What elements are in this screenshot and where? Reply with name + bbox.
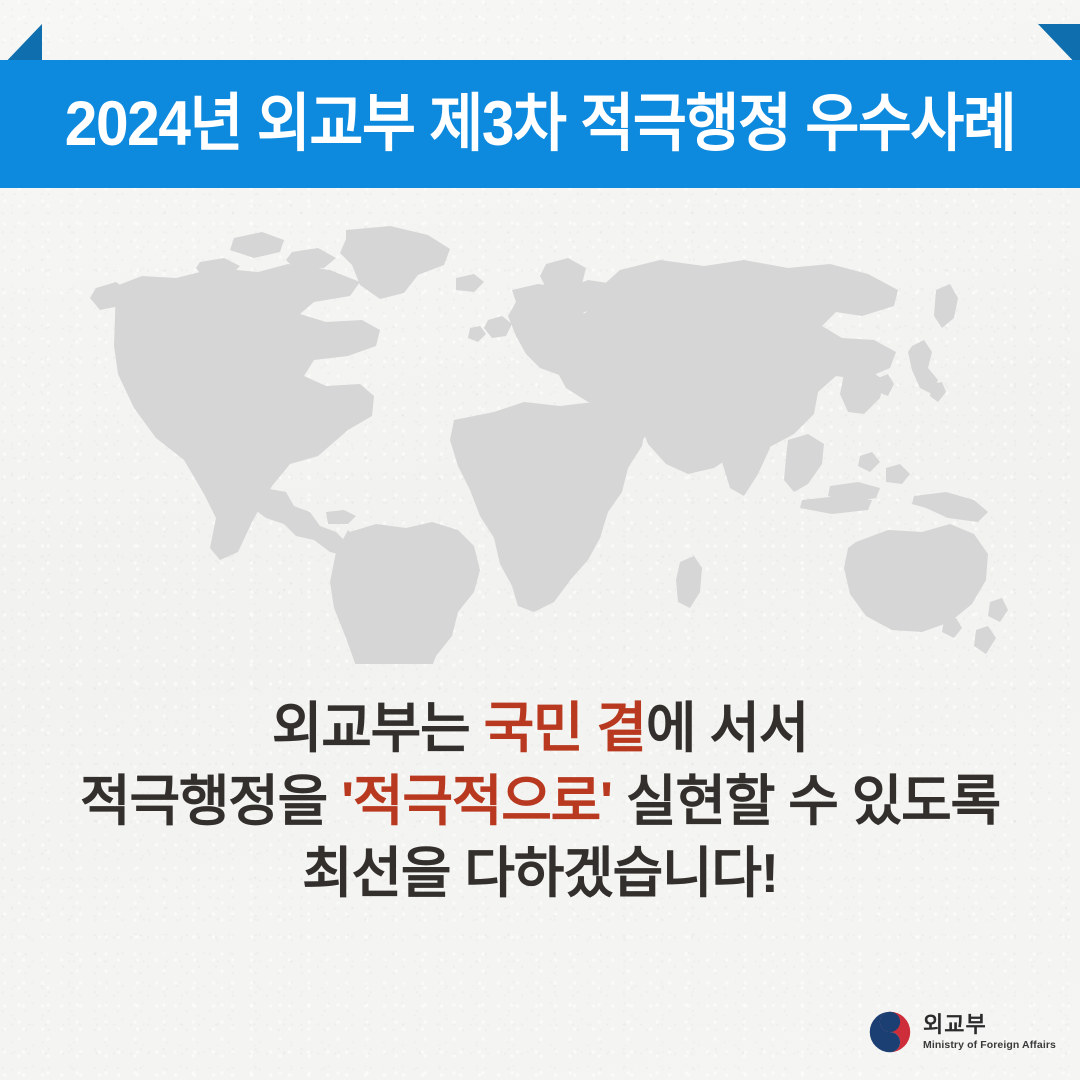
header-ribbon: 2024년 외교부 제3차 적극행정 우수사례 xyxy=(0,0,1080,190)
headline-line-1-post: 에 서서 xyxy=(646,697,808,759)
ministry-logo-text: 외교부 Ministry of Foreign Affairs xyxy=(923,1014,1056,1051)
ribbon-band: 2024년 외교부 제3차 적극행정 우수사례 xyxy=(0,60,1080,188)
headline-line-1-pre: 외교부는 xyxy=(272,697,484,759)
page-title: 2024년 외교부 제3차 적극행정 우수사례 xyxy=(52,93,1029,156)
headline-line-2-post: 실현할 수 있도록 xyxy=(612,770,1000,832)
world-map-landmasses xyxy=(90,226,1008,664)
headline-line-2: 적극행정을 '적극적으로' 실현할 수 있도록 xyxy=(0,765,1080,838)
headline-line-2-pre: 적극행정을 xyxy=(80,770,341,832)
taegeuk-icon xyxy=(868,1010,912,1054)
poster-card: 2024년 외교부 제3차 적극행정 우수사례 xyxy=(0,0,1080,1080)
ministry-name-ko: 외교부 xyxy=(923,1014,1056,1036)
world-map xyxy=(60,224,1020,664)
headline-line-1: 외교부는 국민 곁에 서서 xyxy=(0,692,1080,765)
ministry-logo: 외교부 Ministry of Foreign Affairs xyxy=(868,1010,1056,1054)
headline-line-2-accent: '적극적으로' xyxy=(341,770,612,832)
headline-line-3-pre: 최선을 다하겠습니다! xyxy=(302,842,778,904)
ministry-name-en: Ministry of Foreign Affairs xyxy=(923,1040,1056,1051)
headline-block: 외교부는 국민 곁에 서서 적극행정을 '적극적으로' 실현할 수 있도록 최선… xyxy=(0,692,1080,910)
headline-line-1-accent: 국민 곁 xyxy=(484,697,646,759)
headline-line-3: 최선을 다하겠습니다! xyxy=(0,837,1080,910)
